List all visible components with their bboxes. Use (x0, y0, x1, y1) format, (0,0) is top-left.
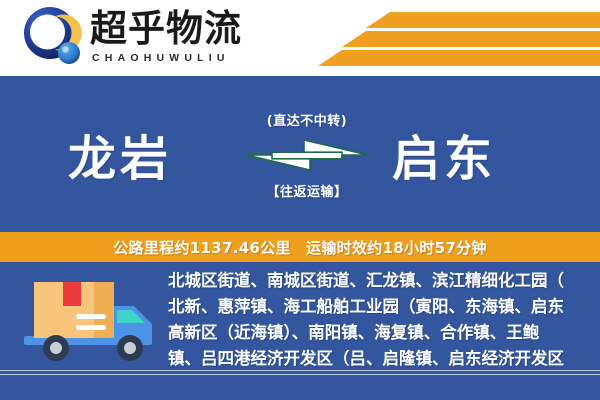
brand-name-en: CHAOHUWULIU (92, 52, 242, 64)
coverage-area-text: 北城区街道、南城区街道、汇龙镇、滨江精细化工园（ 北新、惠萍镇、海工船舶工业园（… (168, 268, 596, 372)
coverage-panel: 北城区街道、南城区街道、汇龙镇、滨江精细化工园（ 北新、惠萍镇、海工船舶工业园（… (0, 262, 600, 400)
speed-stripes-icon (300, 6, 600, 70)
route-panel: 龙岩 (直达不中转) 【往返运输】 启东 (0, 76, 600, 232)
brand-logo-block: 超乎物流 CHAOHUWULIU (22, 6, 242, 68)
banner-header: 超乎物流 CHAOHUWULIU (0, 0, 600, 76)
delivery-truck-icon (18, 272, 164, 368)
bidirectional-arrow-icon (244, 138, 370, 172)
route-info-bar: 公路里程约1137.46公里 运输时效约18小时57分钟 (0, 232, 600, 262)
panel-divider (0, 370, 600, 375)
route-middle-block: (直达不中转) 【往返运输】 (244, 110, 370, 200)
coverage-line: 镇、吕四港经济开发区（吕、启隆镇、启东经济开发区 (168, 346, 596, 372)
destination-city: 启东 (392, 119, 496, 189)
coverage-line: 高新区（近海镇）、南阳镇、海复镇、合作镇、王鲍 (168, 320, 596, 346)
route-note-roundtrip: 【往返运输】 (266, 181, 347, 200)
origin-city: 龙岩 (68, 119, 172, 189)
coverage-line: 北城区街道、南城区街道、汇龙镇、滨江精细化工园（ (168, 268, 596, 294)
chaohu-circle-logo-icon (22, 6, 84, 68)
coverage-line: 北新、惠萍镇、海工船舶工业园（寅阳、东海镇、启东 (168, 294, 596, 320)
logistics-route-banner: 超乎物流 CHAOHUWULIU 龙岩 (直达不中转) (0, 0, 600, 400)
brand-name-cn: 超乎物流 (90, 10, 242, 49)
brand-text-block: 超乎物流 CHAOHUWULIU (90, 10, 242, 64)
route-info-text: 公路里程约1137.46公里 运输时效约18小时57分钟 (113, 237, 486, 258)
route-note-direct: (直达不中转) (267, 110, 347, 129)
